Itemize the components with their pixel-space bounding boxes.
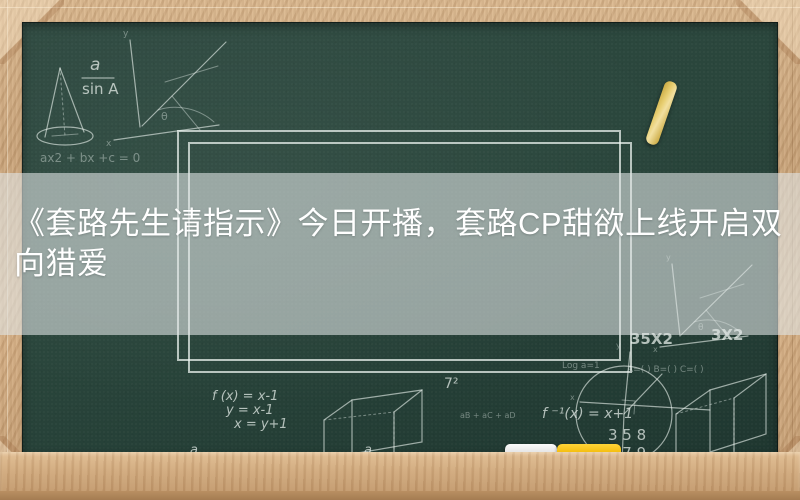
chalk-tray-ledge <box>0 452 800 500</box>
cube-center <box>324 390 422 454</box>
svg-text:x: x <box>106 139 112 149</box>
svg-text:f ⁻¹(x) = x+1: f ⁻¹(x) = x+1 <box>542 406 633 422</box>
cube-right <box>676 374 766 454</box>
svg-text:y = x-1: y = x-1 <box>225 403 274 418</box>
svg-text:3 5 8: 3 5 8 <box>608 426 646 444</box>
svg-text:y: y <box>123 29 129 39</box>
cone-drawing <box>37 68 93 145</box>
svg-text:ax2 + bx +c = 0: ax2 + bx +c = 0 <box>40 151 140 165</box>
svg-text:x: x <box>570 393 575 402</box>
caption-overlay-band: 《套路先生请指示》今日开播，套路CP甜欲上线开启双向猎爱 <box>0 173 800 335</box>
svg-text:x = y+1: x = y+1 <box>233 417 288 432</box>
svg-text:sin A: sin A <box>82 80 119 98</box>
svg-text:θ: θ <box>161 110 168 123</box>
svg-text:x: x <box>653 345 658 354</box>
chalkboard-scene: a sin A ax2 + bx +c = 0 y x θ <box>0 0 800 500</box>
svg-text:7²: 7² <box>444 376 459 392</box>
svg-text:A=( ) B=( ) C=( ): A=( ) B=( ) C=( ) <box>627 365 704 375</box>
svg-text:f (x) = x-1: f (x) = x-1 <box>212 389 278 404</box>
svg-text:a: a <box>90 55 100 75</box>
svg-text:aB + aC + aD: aB + aC + aD <box>460 411 516 420</box>
page-title: 《套路先生请指示》今日开播，套路CP甜欲上线开启双向猎爱 <box>0 173 800 284</box>
